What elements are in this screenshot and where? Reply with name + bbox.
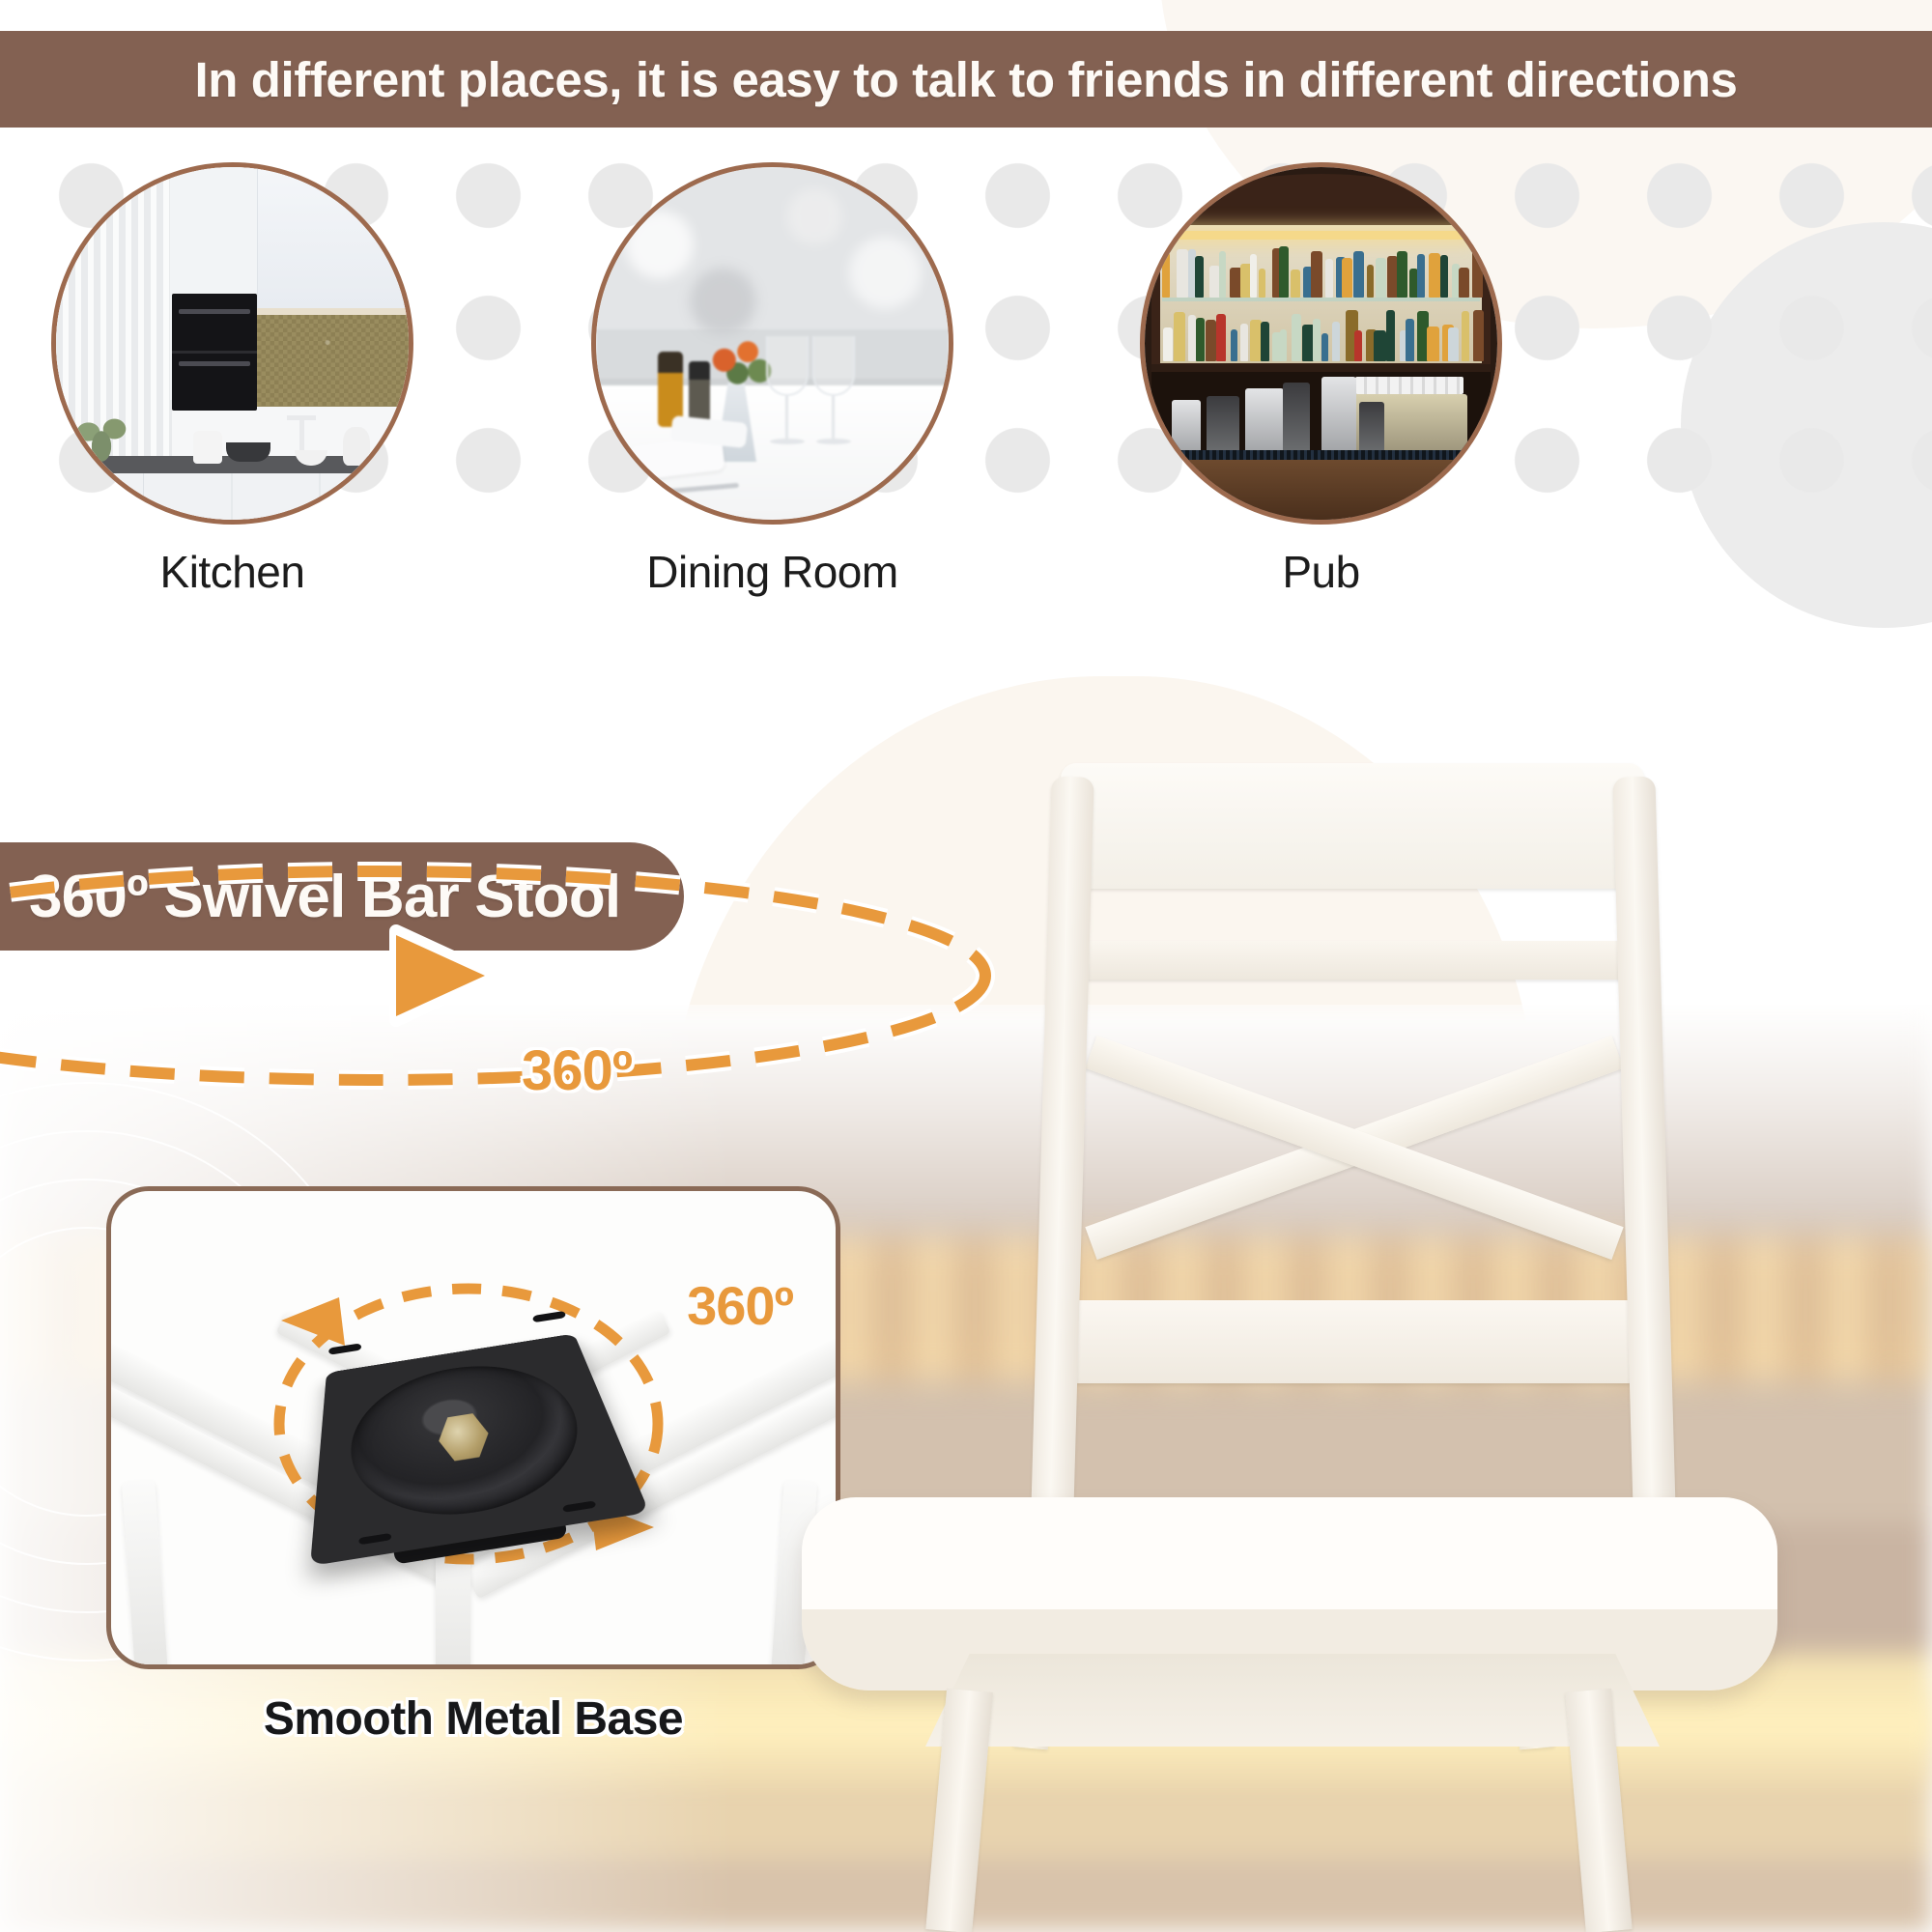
scene-card-kitchen[interactable]: Kitchen: [51, 162, 413, 598]
scene-label-pub: Pub: [1140, 546, 1502, 598]
scene-gallery: Kitchen Dining Room: [0, 145, 1932, 609]
headline-text: In different places, it is easy to talk …: [194, 51, 1737, 108]
product-rotation-label: 360º: [522, 1038, 632, 1103]
scene-card-dining-room[interactable]: Dining Room: [591, 162, 953, 598]
swivel-plate-icon: [298, 1270, 628, 1592]
dining-room-photo-icon: [591, 162, 953, 525]
swivel-base-caption: Smooth Metal Base: [106, 1692, 840, 1746]
kitchen-photo-icon: [51, 162, 413, 525]
marketing-image-canvas: In different places, it is easy to talk …: [0, 0, 1932, 1932]
scene-label-dining-room: Dining Room: [591, 546, 953, 598]
scene-label-kitchen: Kitchen: [51, 546, 413, 598]
headline-banner: In different places, it is easy to talk …: [0, 31, 1932, 128]
swivel-base-inset-card: 360º: [106, 1186, 840, 1669]
scene-card-pub[interactable]: Pub: [1140, 162, 1502, 598]
inset-rotation-label: 360º: [687, 1274, 793, 1337]
stool-rotation-dashed-ellipse: [0, 850, 1024, 1101]
bar-stool-icon: [985, 763, 1777, 1932]
pub-photo-icon: [1140, 162, 1502, 525]
